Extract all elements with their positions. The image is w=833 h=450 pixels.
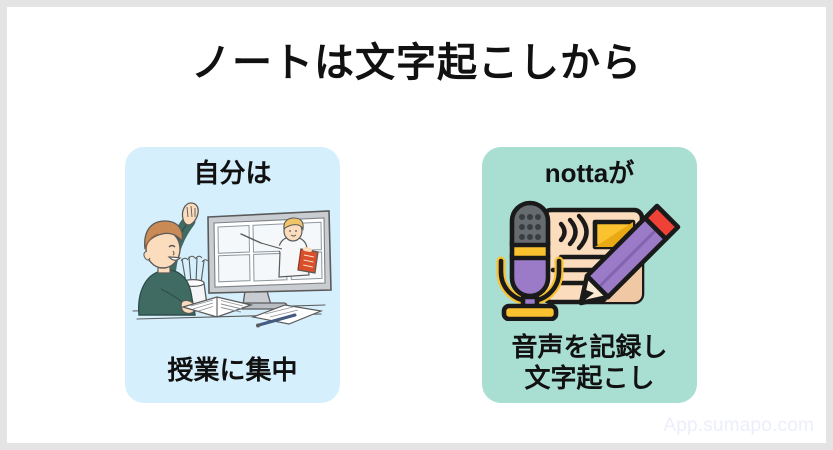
card-notta-caption: 音声を記録し 文字起こし (482, 332, 697, 395)
watermark: App.sumapo.com (663, 415, 814, 437)
card-self-caption-line1: 授業に集中 (125, 355, 340, 387)
card-notta[interactable]: nottaが (482, 147, 697, 403)
card-self-caption: 授業に集中 (125, 355, 340, 387)
card-notta-heading: nottaが (482, 159, 697, 189)
card-notta-caption-line1: 音声を記録し (482, 332, 697, 364)
microphone-document-pencil-icon (482, 193, 697, 321)
student-raising-hand-at-computer-illustration (125, 193, 340, 333)
card-self-heading: 自分は (125, 159, 340, 189)
slide-canvas: ノートは文字起こしから 自分は (7, 7, 826, 443)
card-notta-caption-line2: 文字起こし (482, 363, 697, 395)
card-self[interactable]: 自分は (125, 147, 340, 403)
page-title: ノートは文字起こしから (7, 41, 826, 85)
